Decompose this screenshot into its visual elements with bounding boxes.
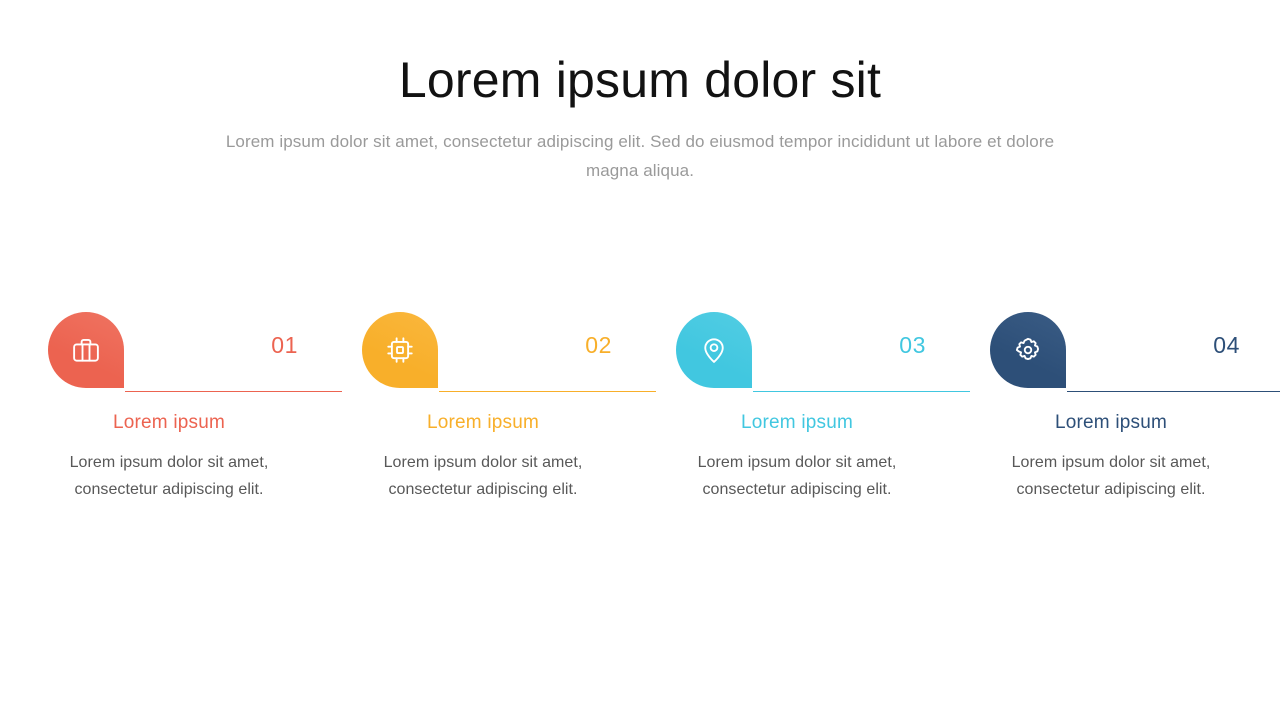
slide-root: Lorem ipsum dolor sit Lorem ipsum dolor … [0, 0, 1280, 720]
page-title: Lorem ipsum dolor sit [0, 48, 1280, 112]
feature-card-2[interactable]: 02 Lorem ipsum Lorem ipsum dolor sit ame… [354, 312, 612, 503]
card-rule-2 [439, 391, 656, 392]
slide-header: Lorem ipsum dolor sit Lorem ipsum dolor … [0, 48, 1280, 185]
card-rule-3 [753, 391, 970, 392]
card-number-2: 02 [585, 332, 612, 358]
pin-marker-1[interactable] [48, 312, 124, 388]
card-title-3: Lorem ipsum [678, 411, 916, 435]
card-title-2: Lorem ipsum [364, 411, 602, 435]
feature-card-3[interactable]: 03 Lorem ipsum Lorem ipsum dolor sit ame… [668, 312, 926, 503]
card-body: Lorem ipsum Lorem ipsum dolor sit amet, … [668, 411, 926, 503]
card-head: 04 [982, 312, 1240, 392]
card-number-1: 01 [271, 332, 298, 358]
card-text-3: Lorem ipsum dolor sit amet, consectetur … [678, 449, 916, 503]
pin-marker-4[interactable] [990, 312, 1066, 388]
map-pin-icon [699, 335, 729, 365]
pin-marker-2[interactable] [362, 312, 438, 388]
card-head: 01 [40, 312, 298, 392]
card-body: Lorem ipsum Lorem ipsum dolor sit amet, … [40, 411, 298, 503]
page-subtitle: Lorem ipsum dolor sit amet, consectetur … [200, 127, 1080, 185]
card-text-2: Lorem ipsum dolor sit amet, consectetur … [364, 449, 602, 503]
pin-marker-3[interactable] [676, 312, 752, 388]
feature-card-4[interactable]: 04 Lorem ipsum Lorem ipsum dolor sit ame… [982, 312, 1240, 503]
card-body: Lorem ipsum Lorem ipsum dolor sit amet, … [982, 411, 1240, 503]
card-text-4: Lorem ipsum dolor sit amet, consectetur … [992, 449, 1230, 503]
card-rule-1 [125, 391, 342, 392]
card-number-3: 03 [899, 332, 926, 358]
cards-row: 01 Lorem ipsum Lorem ipsum dolor sit ame… [40, 312, 1240, 503]
card-body: Lorem ipsum Lorem ipsum dolor sit amet, … [354, 411, 612, 503]
card-head: 03 [668, 312, 926, 392]
feature-card-1[interactable]: 01 Lorem ipsum Lorem ipsum dolor sit ame… [40, 312, 298, 503]
card-head: 02 [354, 312, 612, 392]
card-title-4: Lorem ipsum [992, 411, 1230, 435]
briefcase-icon [71, 335, 101, 365]
card-rule-4 [1067, 391, 1280, 392]
gear-icon [1013, 335, 1043, 365]
card-title-1: Lorem ipsum [50, 411, 288, 435]
cpu-chip-icon [385, 335, 415, 365]
card-text-1: Lorem ipsum dolor sit amet, consectetur … [50, 449, 288, 503]
card-number-4: 04 [1213, 332, 1240, 358]
